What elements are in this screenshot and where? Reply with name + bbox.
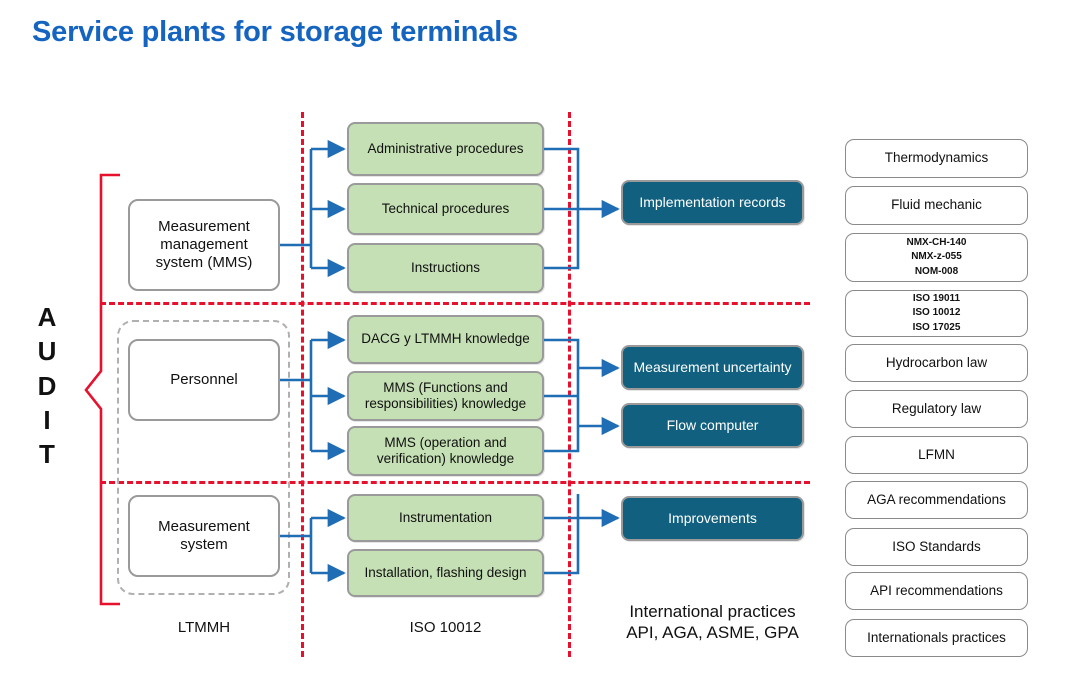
box-mms-operation-verification-knowledge[interactable]: MMS (operation and verification) knowled… — [347, 426, 544, 476]
reference-label: ISO Standards — [892, 539, 981, 555]
connector-group2-merge — [544, 340, 578, 451]
connector-group1-merge — [544, 149, 578, 268]
reference-label: AGA recommendations — [867, 492, 1006, 508]
box-dacg-ltmmh-knowledge[interactable]: DACG y LTMMH knowledge — [347, 315, 544, 364]
audit-label: A U D I T — [33, 300, 61, 472]
box-measurement-management-system[interactable]: Measurement management system (MMS) — [128, 199, 280, 291]
audit-letter-a: A — [33, 300, 61, 334]
box-instrumentation[interactable]: Instrumentation — [347, 494, 544, 542]
reference-label: ISO 19011 ISO 10012 ISO 17025 — [913, 292, 961, 336]
box-flow-computer[interactable]: Flow computer — [621, 403, 804, 448]
box-label: Instrumentation — [399, 510, 492, 526]
reference-box-iso-standards[interactable]: ISO Standards — [845, 528, 1028, 566]
box-label: Technical procedures — [382, 201, 510, 217]
connector-group3-merge — [544, 494, 578, 573]
box-label: Personnel — [170, 371, 238, 389]
audit-letter-d: D — [33, 369, 61, 403]
reference-label: Internationals practices — [867, 630, 1006, 646]
audit-letter-i: I — [33, 403, 61, 437]
audit-brace — [86, 175, 120, 604]
box-label: Administrative procedures — [367, 141, 523, 157]
box-implementation-records[interactable]: Implementation records — [621, 180, 804, 225]
caption-line-1: International practices — [600, 601, 825, 622]
reference-box-fluid-mechanic[interactable]: Fluid mechanic — [845, 186, 1028, 225]
caption-international-practices: International practices API, AGA, ASME, … — [600, 601, 825, 644]
box-label: Installation, flashing design — [364, 565, 526, 581]
caption-line-2: API, AGA, ASME, GPA — [600, 622, 825, 643]
box-improvements[interactable]: Improvements — [621, 496, 804, 541]
caption-ltmmh: LTMMH — [128, 619, 280, 638]
box-label: DACG y LTMMH knowledge — [361, 331, 530, 347]
reference-box-iso-series[interactable]: ISO 19011 ISO 10012 ISO 17025 — [845, 290, 1028, 337]
box-label: Instructions — [411, 260, 480, 276]
audit-letter-t: T — [33, 437, 61, 471]
reference-label: API recommendations — [870, 583, 1003, 599]
reference-label: NMX-CH-140 NMX-z-055 NOM-008 — [906, 236, 966, 280]
box-technical-procedures[interactable]: Technical procedures — [347, 183, 544, 235]
reference-box-lfmn[interactable]: LFMN — [845, 436, 1028, 474]
caption-iso-10012: ISO 10012 — [347, 619, 544, 638]
reference-label: Fluid mechanic — [891, 197, 982, 213]
audit-letter-u: U — [33, 334, 61, 368]
box-label: MMS (Functions and responsibilities) kno… — [353, 380, 538, 412]
reference-box-regulatory-law[interactable]: Regulatory law — [845, 390, 1028, 428]
box-personnel[interactable]: Personnel — [128, 339, 280, 421]
reference-box-nmx-nom[interactable]: NMX-CH-140 NMX-z-055 NOM-008 — [845, 233, 1028, 282]
box-measurement-system[interactable]: Measurement system — [128, 495, 280, 577]
reference-box-thermodynamics[interactable]: Thermodynamics — [845, 139, 1028, 178]
box-label: MMS (operation and verification) knowled… — [353, 435, 538, 467]
box-label: Improvements — [668, 510, 757, 527]
reference-label: Regulatory law — [892, 401, 981, 417]
box-label: Measurement management system (MMS) — [138, 218, 270, 272]
box-measurement-uncertainty[interactable]: Measurement uncertainty — [621, 345, 804, 390]
box-label: Implementation records — [639, 194, 785, 211]
caption-label: ISO 10012 — [410, 619, 482, 636]
red-divider-vertical-right — [568, 112, 571, 657]
reference-label: LFMN — [918, 447, 955, 463]
reference-label: Thermodynamics — [885, 150, 989, 166]
reference-box-api-recommendations[interactable]: API recommendations — [845, 572, 1028, 610]
box-mms-functions-responsibilities-knowledge[interactable]: MMS (Functions and responsibilities) kno… — [347, 371, 544, 421]
red-divider-vertical-left — [301, 112, 304, 657]
caption-label: LTMMH — [178, 619, 230, 636]
box-installation-flashing-design[interactable]: Installation, flashing design — [347, 549, 544, 597]
box-administrative-procedures[interactable]: Administrative procedures — [347, 122, 544, 176]
red-divider-horizontal-top — [100, 302, 810, 305]
diagram-canvas: Service plants for storage terminals A U… — [0, 0, 1065, 689]
box-label: Measurement uncertainty — [634, 359, 792, 376]
reference-label: Hydrocarbon law — [886, 355, 987, 371]
reference-box-aga-recommendations[interactable]: AGA recommendations — [845, 481, 1028, 519]
box-label: Measurement system — [138, 518, 270, 554]
reference-box-internationals-practices[interactable]: Internationals practices — [845, 619, 1028, 657]
box-instructions[interactable]: Instructions — [347, 243, 544, 293]
box-label: Flow computer — [667, 417, 759, 434]
page-title: Service plants for storage terminals — [32, 16, 518, 49]
reference-box-hydrocarbon-law[interactable]: Hydrocarbon law — [845, 344, 1028, 382]
